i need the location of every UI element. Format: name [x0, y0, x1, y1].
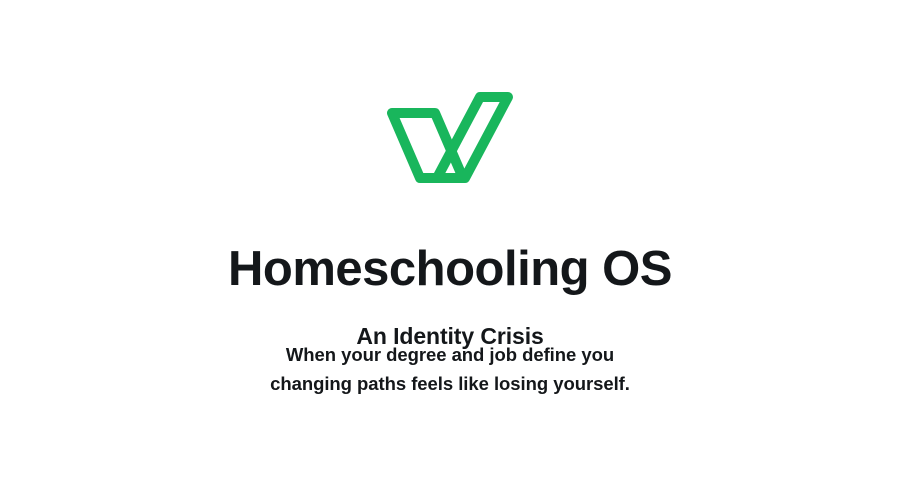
logo-container	[0, 90, 900, 186]
body-line-1: When your degree and job define you	[0, 340, 900, 369]
brand-logo-icon	[385, 90, 515, 186]
page-title: Homeschooling OS	[0, 241, 900, 298]
body-copy: When your degree and job define you chan…	[0, 340, 900, 398]
title-slide: Homeschooling OS An Identity Crisis When…	[0, 0, 900, 500]
body-line-2: changing paths feels like losing yoursel…	[0, 369, 900, 398]
